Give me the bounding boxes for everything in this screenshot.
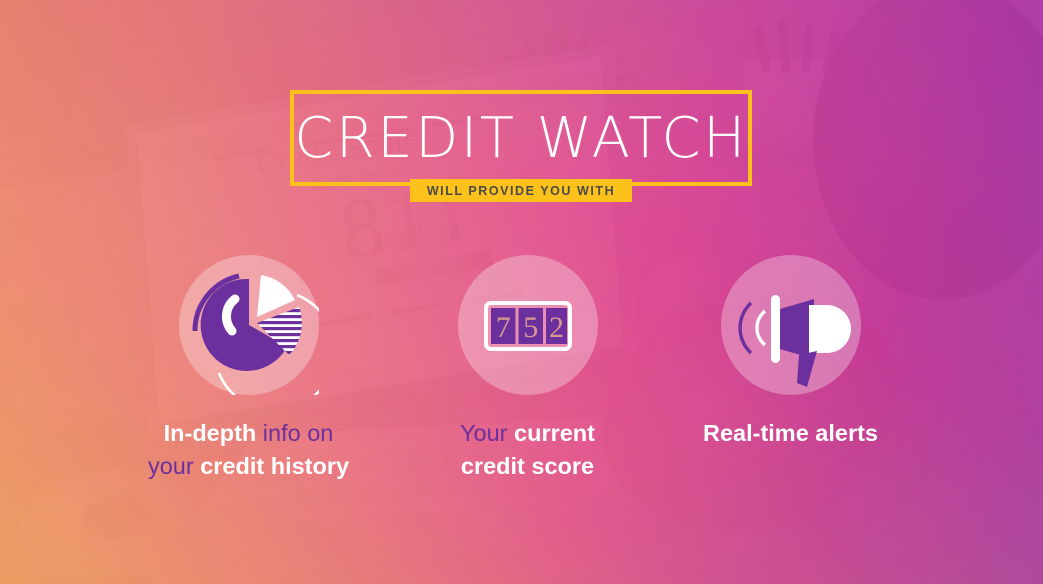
- icon-circle-backdrop: [179, 255, 319, 395]
- feature-real-time-alerts[interactable]: Real-time alerts: [648, 255, 933, 450]
- caption-bold-1: In-depth: [164, 420, 257, 446]
- icon-circle-backdrop: 7 5 2: [458, 255, 598, 395]
- feature-credit-history[interactable]: In-depth info on your credit history: [106, 255, 391, 483]
- caption-light-1: info on: [256, 420, 333, 446]
- megaphone-icon: [721, 255, 861, 395]
- credit-score-digits-icon: 7 5 2: [458, 255, 598, 395]
- page-title: CREDIT WATCH: [290, 90, 752, 186]
- slide-canvas: Credit Score Your Credit Score is 811 Ex…: [0, 0, 1043, 584]
- feature-caption: In-depth info on your credit history: [106, 417, 391, 483]
- subtitle-ribbon: WILL PROVIDE YOU WITH: [410, 179, 632, 202]
- caption-bold-2: credit history: [200, 453, 349, 479]
- score-digit-1: 7: [495, 311, 510, 344]
- feature-credit-score[interactable]: 7 5 2 Your current credit score: [385, 255, 670, 483]
- caption-light-2: your: [148, 453, 200, 479]
- score-digit-2: 5: [523, 311, 538, 344]
- caption-bold-1: Real-time alerts: [703, 420, 878, 446]
- icon-circle-backdrop: [721, 255, 861, 395]
- caption-bold-1: current: [514, 420, 595, 446]
- score-digit-3: 2: [549, 311, 564, 344]
- caption-bold-2: credit score: [461, 453, 594, 479]
- caption-light-1: Your: [460, 420, 514, 446]
- feature-caption: Real-time alerts: [648, 417, 933, 450]
- feature-caption: Your current credit score: [385, 417, 670, 483]
- pie-chart-icon: [179, 255, 319, 395]
